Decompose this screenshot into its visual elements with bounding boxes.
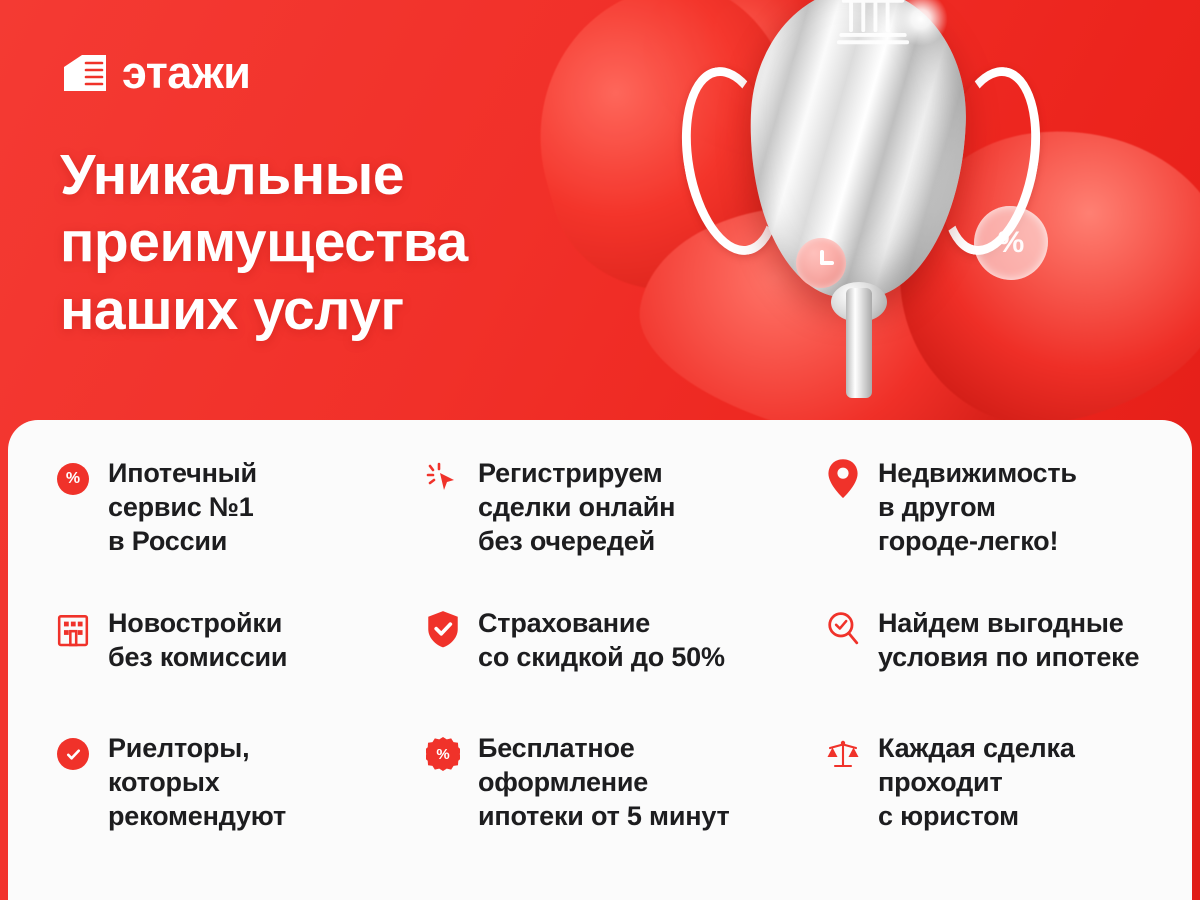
feature-item: % Бесплатное оформление ипотеки от 5 мин… [426,731,826,900]
percent-circle-icon: % [56,462,90,496]
headline-line-1: Уникальные [60,142,468,209]
feature-text: Каждая сделка проходит с юристом [878,731,1075,833]
trophy-stem [846,288,872,398]
cursor-click-icon [426,462,460,496]
feature-item: % Ипотечный сервис №1 в России [56,456,426,606]
feature-item: Риелторы, которых рекомендуют [56,731,426,900]
clock-icon [796,238,846,288]
hero-illustration: % [520,0,1200,440]
map-pin-icon [826,462,860,496]
page-title: Уникальные преимущества наших услуг [60,142,468,344]
feature-text: Ипотечный сервис №1 в России [108,456,257,558]
shield-check-icon [426,612,460,646]
feature-item: Новостройки без комиссии [56,606,426,731]
feature-text: Риелторы, которых рекомендуют [108,731,286,833]
feature-item: Страхование со скидкой до 50% [426,606,826,731]
building-stripes-icon [62,53,108,93]
feature-item: Недвижимость в другом городе-легко! [826,456,1200,606]
bank-columns-icon [834,0,912,52]
percent-badge-icon: % [974,206,1048,280]
feature-text: Новостройки без комиссии [108,606,287,674]
feature-item: Регистрируем сделки онлайн без очередей [426,456,826,606]
check-circle-icon [56,737,90,771]
feature-item: Каждая сделка проходит с юристом [826,731,1200,900]
features-card: % Ипотечный сервис №1 в России Регис [8,420,1192,900]
building-icon [56,612,90,646]
search-check-icon [826,612,860,646]
features-grid: % Ипотечный сервис №1 в России Регис [8,420,1192,900]
scales-justice-icon [826,737,860,771]
feature-text: Бесплатное оформление ипотеки от 5 минут [478,731,730,833]
percent-burst-icon: % [426,737,460,771]
feature-item: Найдем выгодные условия по ипотеке [826,606,1200,731]
feature-text: Регистрируем сделки онлайн без очередей [478,456,675,558]
headline-line-2: преимущества [60,209,468,276]
promo-banner: % этажи Уникальные преимущества наших ус… [0,0,1200,900]
feature-text: Недвижимость в другом городе-легко! [878,456,1077,558]
brand-logo[interactable]: этажи [62,50,250,95]
brand-name: этажи [122,50,250,95]
feature-text: Страхование со скидкой до 50% [478,606,725,674]
trophy-icon: % [698,0,1028,410]
feature-text: Найдем выгодные условия по ипотеке [878,606,1139,674]
headline-line-3: наших услуг [60,277,468,344]
